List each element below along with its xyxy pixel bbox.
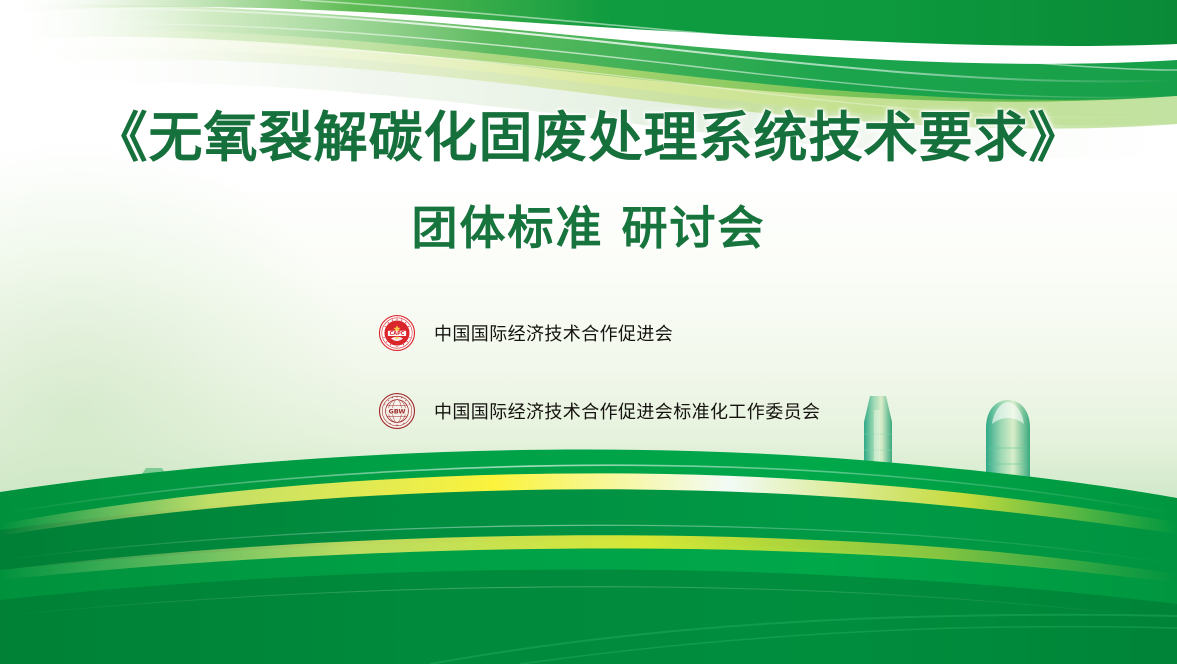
title-slide: 《无氧裂解碳化固废处理系统技术要求》 团体标准 研讨会 — [0, 0, 1177, 664]
organization-name: 中国国际经济技术合作促进会标准化工作委员会 — [434, 398, 820, 424]
organization-name: 中国国际经济技术合作促进会 — [434, 320, 673, 346]
green-ribbon-wave-icon — [0, 0, 1177, 190]
organization-row: CAPC 中国国际经济技术合作促进会 — [378, 312, 820, 354]
organization-row: GBW 中国国际经济技术合作促进会标准化工作委员会 — [378, 390, 820, 432]
svg-text:CAPC: CAPC — [390, 331, 405, 337]
svg-text:GBW: GBW — [389, 407, 406, 415]
gbw-seal-icon: GBW — [378, 392, 416, 430]
organization-list: CAPC 中国国际经济技术合作促进会 — [378, 312, 820, 432]
capc-seal-icon: CAPC — [378, 314, 416, 352]
